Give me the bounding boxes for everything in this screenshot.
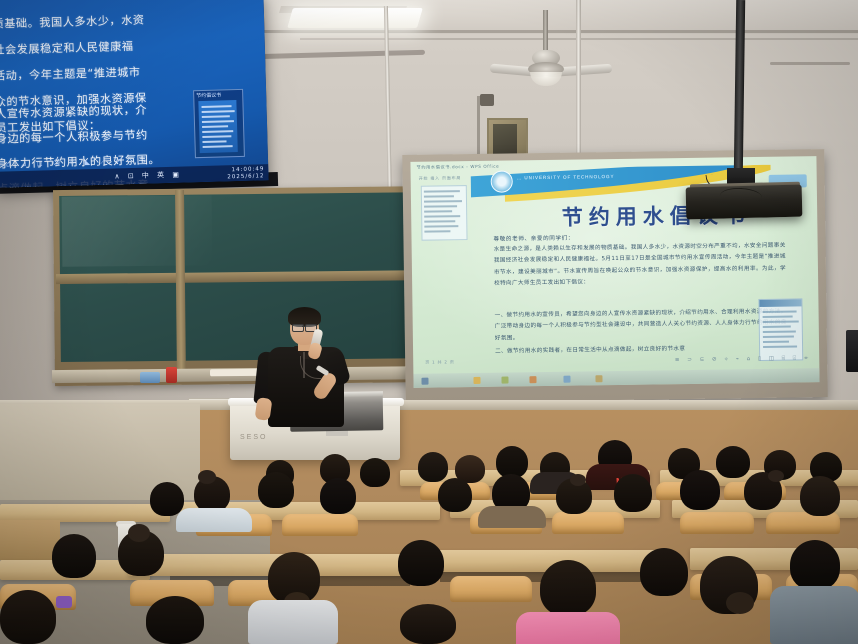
tv-tray-icons[interactable]: ∧ ⊡ 中 英 ▣ bbox=[114, 170, 182, 182]
hair-bun bbox=[570, 474, 586, 486]
student-head bbox=[680, 470, 720, 510]
seat bbox=[450, 576, 532, 602]
student-body bbox=[248, 600, 338, 644]
student-head bbox=[150, 482, 184, 516]
student-head bbox=[418, 452, 448, 482]
taskbar-app-icon[interactable] bbox=[529, 376, 536, 383]
glasses-bridge bbox=[302, 326, 306, 327]
wall-crack-right bbox=[770, 62, 850, 65]
student-head bbox=[52, 534, 96, 578]
taskbar-app-icon[interactable] bbox=[501, 376, 508, 383]
student-head bbox=[258, 472, 294, 508]
document-paragraph-1: 水是生命之源，是人类赖以生存和发展的物质基础。我国人多水少，水资源时空分布严重不… bbox=[494, 241, 787, 291]
fan-rod bbox=[543, 10, 548, 54]
red-box-item bbox=[166, 367, 177, 383]
tv-floating-window-title: 节约倡议书 bbox=[196, 91, 221, 99]
student-head bbox=[800, 476, 840, 516]
seat bbox=[680, 512, 754, 534]
document-floating-panel[interactable] bbox=[758, 298, 803, 361]
student-head bbox=[716, 446, 750, 478]
student-body bbox=[516, 612, 620, 644]
document-status-bar: 页 1 共 2 页 bbox=[425, 359, 454, 365]
student-head bbox=[146, 596, 204, 644]
seat bbox=[766, 512, 840, 534]
right-wall-speaker-icon bbox=[846, 330, 858, 372]
chalkboard-glare bbox=[62, 195, 213, 267]
navigation-pane[interactable] bbox=[421, 185, 468, 241]
hair-bun bbox=[726, 592, 754, 614]
document-salutation: 尊敬的老师、亲爱的同学们： bbox=[493, 234, 574, 243]
desk bbox=[420, 550, 670, 572]
student-head bbox=[0, 590, 56, 644]
student-head bbox=[438, 478, 472, 512]
hair-tie bbox=[56, 596, 72, 608]
fluorescent-light-icon bbox=[287, 8, 423, 28]
seat bbox=[552, 512, 624, 534]
tv-floating-window[interactable]: 节约倡议书 bbox=[193, 89, 245, 158]
student-head bbox=[614, 474, 652, 512]
student-body bbox=[770, 586, 858, 644]
hair-bun bbox=[768, 470, 784, 482]
desk-side-panel bbox=[0, 520, 60, 560]
document-paragraph-2: 一、做节约用水的宣传员，希望您向身边的人宣传水资源紧缺的现状，介绍节约用水、合理… bbox=[495, 307, 787, 345]
student-body bbox=[478, 506, 546, 528]
wall-plug bbox=[480, 94, 494, 106]
lecture-hall-photo: 和发展的物质基础。我国人多水少，水资 关我国经济社会发展稳定和人民健康福 用水宣… bbox=[0, 0, 858, 644]
floating-panel-titlebar bbox=[759, 299, 801, 307]
student-head bbox=[790, 540, 840, 590]
hair-bun bbox=[198, 470, 216, 484]
taskbar-start-icon[interactable] bbox=[421, 378, 428, 385]
student-head bbox=[540, 560, 596, 616]
student-head bbox=[640, 548, 688, 596]
tv-floating-page bbox=[198, 100, 237, 153]
wall-display[interactable]: 和发展的物质基础。我国人多水少，水资 关我国经济社会发展稳定和人民健康福 用水宣… bbox=[0, 0, 269, 188]
taskbar-folder-icon[interactable] bbox=[473, 377, 480, 384]
taskbar-app-icon[interactable] bbox=[595, 375, 602, 382]
seat bbox=[282, 514, 358, 536]
taskbar-app-icon[interactable] bbox=[563, 376, 570, 383]
lectern-label: SESO bbox=[240, 434, 267, 441]
hanging-pipe bbox=[576, 0, 581, 160]
student-head bbox=[398, 540, 444, 586]
tv-clock: 14:00:49 2025/6/12 bbox=[227, 166, 265, 180]
student-body bbox=[176, 508, 252, 532]
student-head bbox=[360, 458, 390, 487]
student-head bbox=[320, 478, 356, 514]
student-head bbox=[400, 604, 456, 644]
blue-box-item bbox=[140, 372, 160, 383]
hair-bun bbox=[128, 524, 150, 542]
